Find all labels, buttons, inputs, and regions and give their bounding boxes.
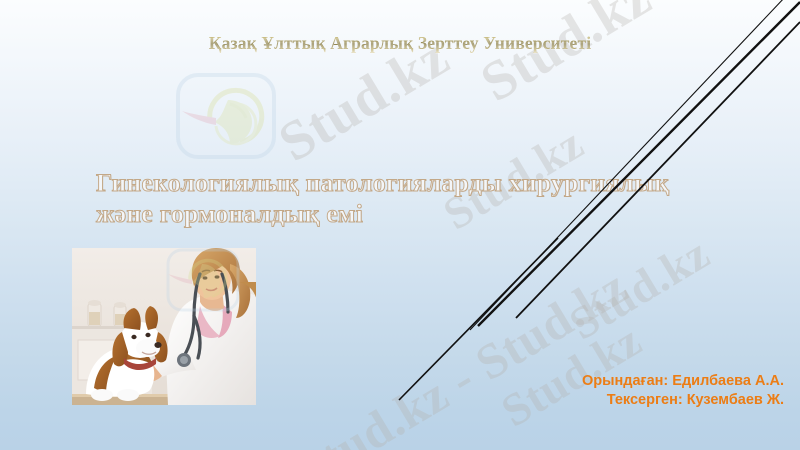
university-header-title: Қазақ Ұлттық Аграрлық Зерттеу Университе… bbox=[0, 33, 800, 54]
performed-by-text: Орындаған: Едилбаева А.А. bbox=[582, 372, 784, 391]
authors-block: Орындаған: Едилбаева А.А. Тексерген: Куз… bbox=[582, 372, 784, 409]
main-title-line-2: және гормоналдық емі bbox=[96, 198, 736, 229]
presentation-slide: Stud.kz Stud.kz Stud.kz Stud.kz Stud.kz … bbox=[0, 0, 800, 450]
diagonal-line-4 bbox=[399, 238, 558, 400]
checked-by-text: Тексерген: Кузембаев Ж. bbox=[582, 391, 784, 410]
hummingbird-logo-watermark bbox=[172, 70, 290, 162]
slide-main-title: Гинекологиялық патологияларды хирургиялы… bbox=[96, 167, 736, 229]
main-title-line-1: Гинекологиялық патологияларды хирургиялы… bbox=[96, 168, 669, 197]
watermark-text: Stud.kz bbox=[470, 0, 662, 115]
watermark-text: Stud.kz bbox=[560, 226, 719, 350]
veterinarian-photo bbox=[72, 248, 256, 405]
watermark-text: Stud.kz - Stud.kz bbox=[286, 257, 638, 450]
